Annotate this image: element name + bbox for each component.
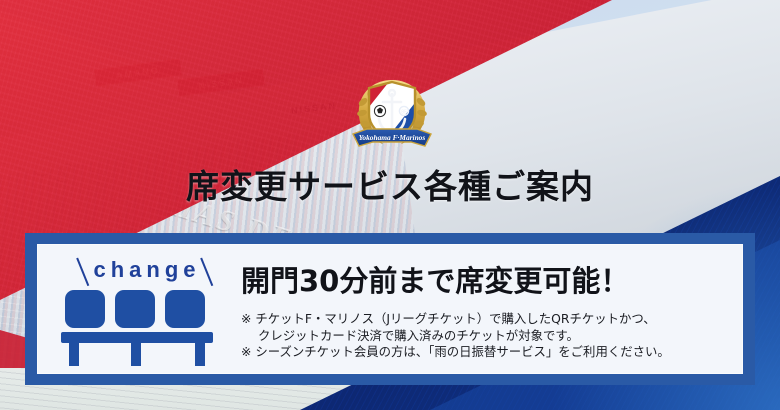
stadium-seats-icon [59, 288, 219, 366]
slash-left-icon [77, 258, 90, 287]
note-line-2: クレジットカード決済で購入済みのチケットが対象です。 [241, 328, 743, 345]
note-line-1: ※ チケットF・マリノス（Jリーグチケット）で購入したQRチケットかつ、 [241, 311, 743, 328]
note-line-3: ※ シーズンチケット会員の方は、「雨の日振替サービス」をご利用ください。 [241, 344, 743, 361]
info-card-left-column: change [37, 244, 237, 374]
info-card-panel: change [37, 244, 743, 374]
card-notes: ※ チケットF・マリノス（Jリーグチケット）で購入したQRチケットかつ、 クレジ… [241, 311, 743, 361]
card-headline: 開門30分前まで席変更可能！ [241, 258, 743, 300]
crest-ribbon-text: Yokohama F·Marinos [359, 133, 426, 142]
info-card-right-column: 開門30分前まで席変更可能！ ※ チケットF・マリノス（Jリーグチケット）で購入… [237, 244, 743, 374]
page-title: 席変更サービス各種ご案内 [0, 160, 780, 208]
change-label: change [93, 257, 200, 283]
slash-right-icon [200, 258, 213, 287]
seat-change-info-card: change [25, 233, 755, 385]
seat-change-service-banner: AMANO NISSAN NISSAN SOMOS HINCHAS DEL MA… [0, 0, 780, 410]
change-label-group: change [49, 250, 239, 290]
svg-text:85: 85 [401, 110, 407, 116]
yokohama-f-marinos-crest-icon: 85 Yokohama F·Marinos [347, 72, 437, 156]
